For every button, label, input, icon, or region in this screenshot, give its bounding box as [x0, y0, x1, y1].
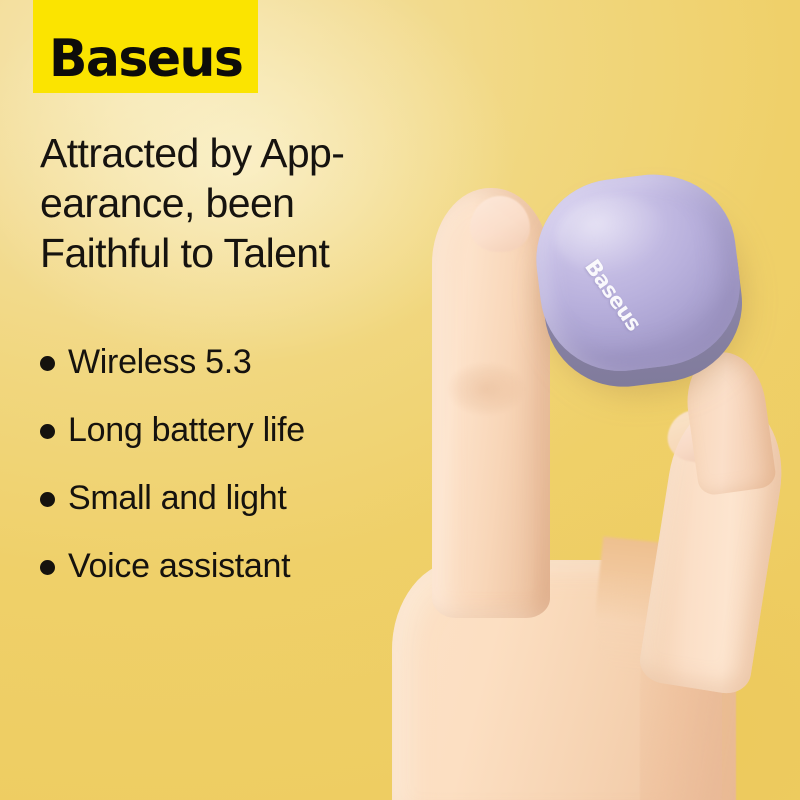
feature-label: Voice assistant — [68, 549, 290, 583]
headline-line-2: earance, been — [40, 178, 470, 228]
brand-logo: Baseus — [33, 0, 258, 93]
bullet-dot-icon — [40, 560, 55, 575]
feature-label: Wireless 5.3 — [68, 345, 251, 379]
feature-item-wireless: Wireless 5.3 — [40, 328, 440, 396]
headline: Attracted by App- earance, been Faithful… — [40, 128, 470, 278]
feature-label: Long battery life — [68, 413, 305, 447]
bullet-dot-icon — [40, 356, 55, 371]
headline-line-3: Faithful to Talent — [40, 228, 470, 278]
feature-list: Wireless 5.3 Long battery life Small and… — [40, 328, 440, 600]
headline-line-1: Attracted by App- — [40, 128, 470, 178]
feature-label: Small and light — [68, 481, 287, 515]
feature-item-size: Small and light — [40, 464, 440, 532]
bullet-dot-icon — [40, 424, 55, 439]
feature-item-voice: Voice assistant — [40, 532, 440, 600]
bullet-dot-icon — [40, 492, 55, 507]
brand-logo-text: Baseus — [49, 33, 242, 85]
feature-item-battery: Long battery life — [40, 396, 440, 464]
product-banner: Baseus Attracted by App- earance, been F… — [0, 0, 800, 800]
